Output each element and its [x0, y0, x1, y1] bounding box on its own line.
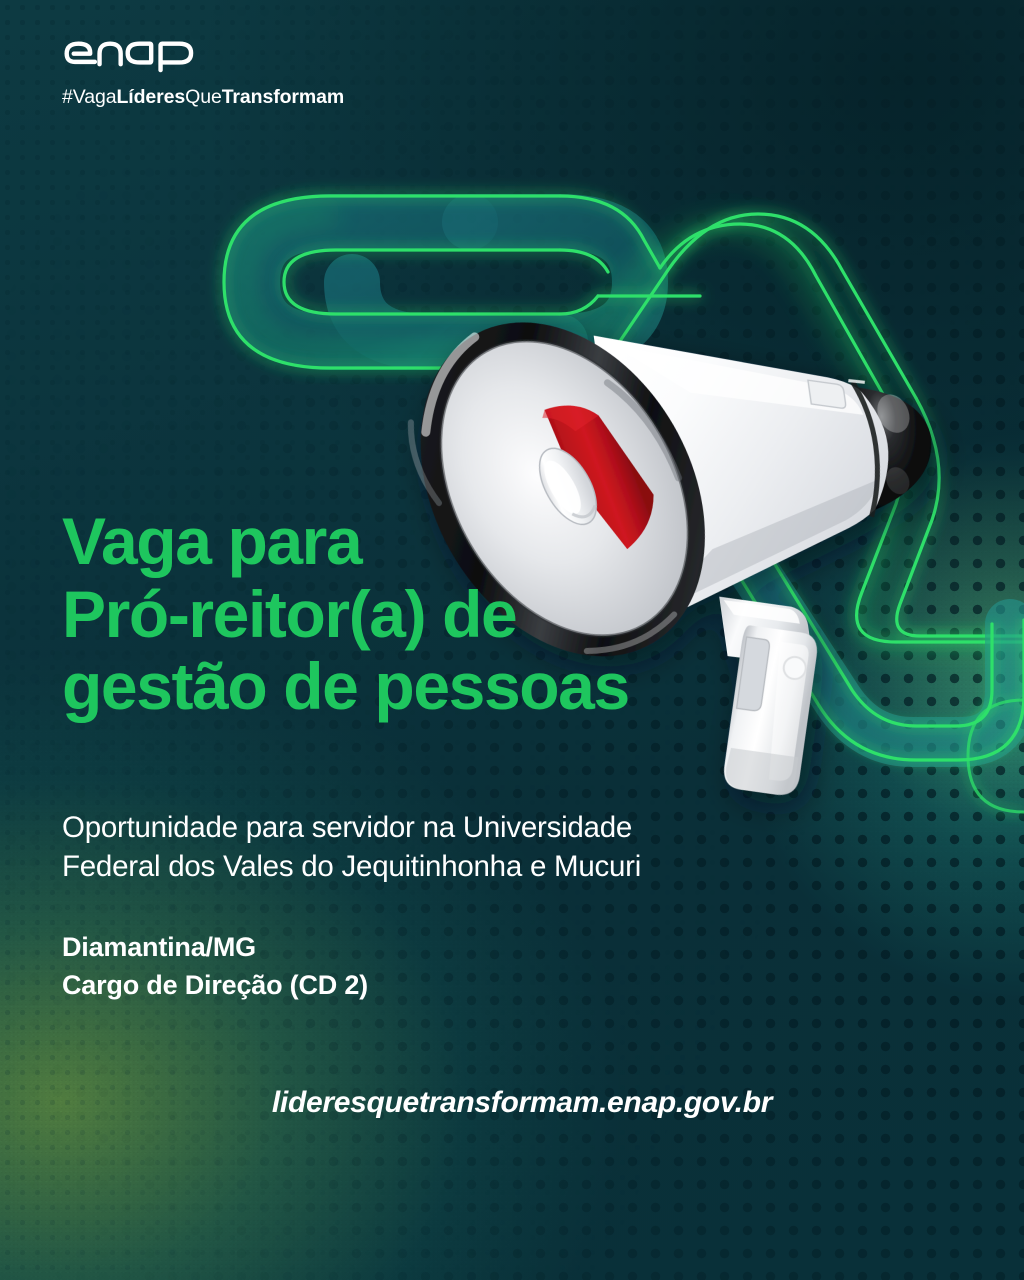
page-title: Vaga para Pró-reitor(a) de gestão de pes…	[62, 505, 842, 723]
subtitle-line-2: Federal dos Vales do Jequitinhonha e Muc…	[62, 847, 822, 886]
brand-logo-block: #VagaLíderesQueTransformam	[62, 36, 392, 109]
website-url-text: lideresquetransformam.enap.gov.br	[252, 1086, 772, 1119]
subtitle-text: Oportunidade para servidor na Universida…	[62, 808, 822, 886]
campaign-hashtag: #VagaLíderesQueTransformam	[62, 86, 392, 109]
job-location: Diamantina/MG	[62, 928, 762, 966]
subtitle-line-1: Oportunidade para servidor na Universida…	[62, 808, 822, 847]
hashtag-part-vaga: #Vaga	[62, 86, 116, 108]
hashtag-part-lideres: Líderes	[116, 86, 185, 108]
headline-line-3: gestão de pessoas	[62, 650, 842, 723]
headline-line-1: Vaga para	[62, 505, 842, 578]
job-position-level: Cargo de Direção (CD 2)	[62, 966, 762, 1004]
hashtag-part-transformam: Transformam	[222, 86, 344, 108]
website-url[interactable]: lideresquetransformam.enap.gov.br	[0, 1086, 1024, 1120]
poster-canvas: #VagaLíderesQueTransformam Vaga para Pró…	[0, 0, 1024, 1280]
enap-wordmark-logo-icon	[62, 36, 238, 76]
hashtag-part-que: Que	[185, 86, 222, 108]
job-details: Diamantina/MG Cargo de Direção (CD 2)	[62, 928, 762, 1005]
headline-line-2: Pró-reitor(a) de	[62, 578, 842, 651]
